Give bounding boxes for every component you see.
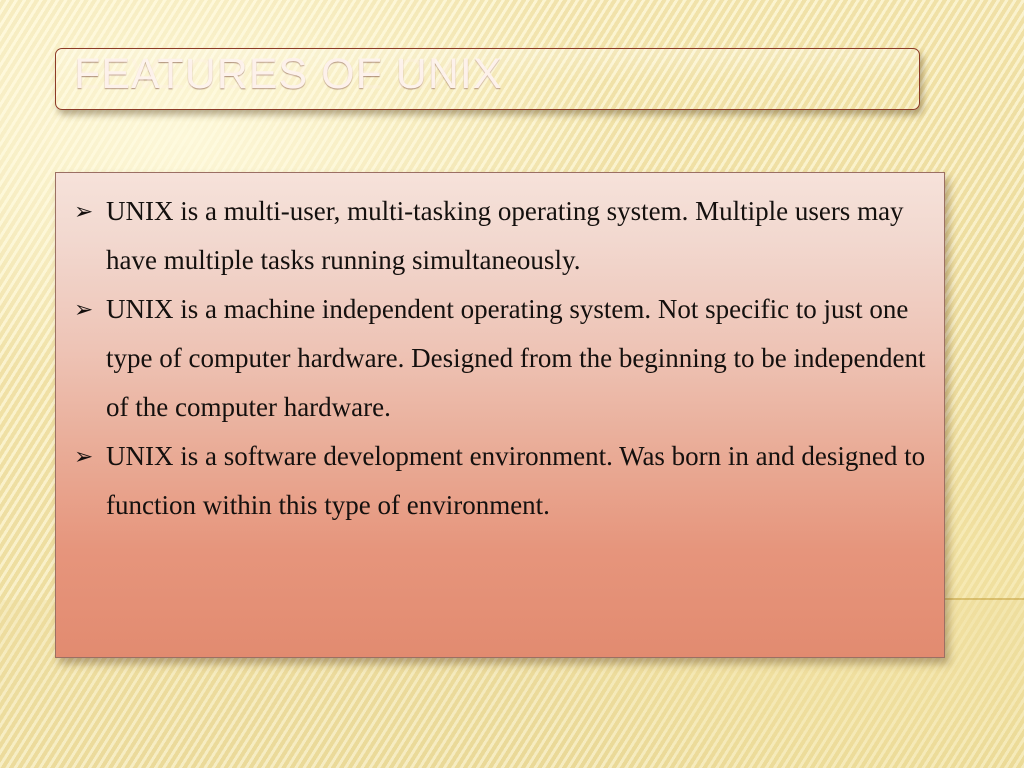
list-item-text: UNIX is a machine independent operating …: [106, 285, 926, 432]
arrowhead-bullet-icon: ➢: [74, 285, 93, 334]
list-item: ➢ UNIX is a multi-user, multi-tasking op…: [68, 187, 926, 285]
slide-title-bar: Features of UNIX Features of UNIX: [55, 48, 920, 110]
slide-canvas: Features of UNIX Features of UNIX ➢ UNIX…: [0, 0, 1024, 768]
list-item: ➢ UNIX is a machine independent operatin…: [68, 285, 926, 432]
list-item-text: UNIX is a software development environme…: [106, 432, 926, 530]
slide-title: Features of UNIX: [74, 48, 503, 102]
slide-content-box: ➢ UNIX is a multi-user, multi-tasking op…: [55, 172, 945, 658]
list-item-text: UNIX is a multi-user, multi-tasking oper…: [106, 187, 926, 285]
list-item: ➢ UNIX is a software development environ…: [68, 432, 926, 530]
bullet-list: ➢ UNIX is a multi-user, multi-tasking op…: [68, 187, 926, 530]
arrowhead-bullet-icon: ➢: [74, 432, 93, 481]
arrowhead-bullet-icon: ➢: [74, 187, 93, 236]
